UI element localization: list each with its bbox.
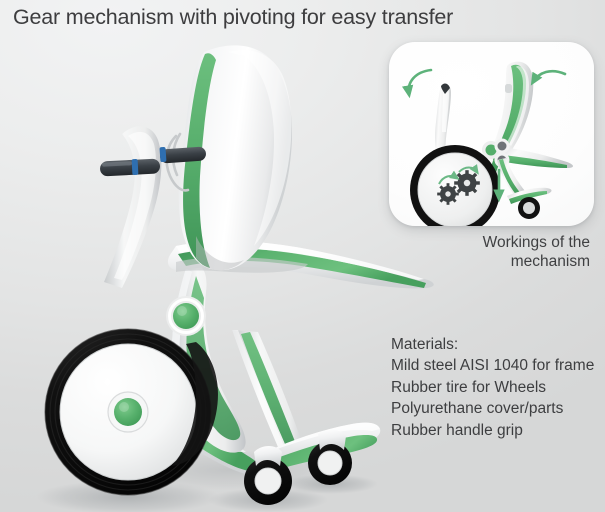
screenshot-root: Gear mechanism with pivoting for easy tr… [0,0,605,512]
mechanism-diagram [389,42,594,226]
grip-accent-ring-2 [159,147,166,162]
inset-caster-wheel [518,197,540,219]
materials-item: Rubber handle grip [391,420,594,441]
mechanism-detail-panel [389,42,594,226]
materials-item: Rubber tire for Wheels [391,377,594,398]
push-handle [104,126,161,288]
arrow-top-right [533,71,565,82]
materials-list: Materials: Mild steel AISI 1040 for fram… [391,334,594,441]
caster-wheel-front [308,441,352,485]
arrow-top-left [409,70,431,94]
materials-heading: Materials: [391,334,594,355]
materials-item: Polyurethane cover/parts [391,398,594,419]
inset-caption-line-1: Workings of the [394,233,590,252]
inset-caption: Workings of the mechanism [394,233,590,271]
grip-accent-ring [132,159,139,175]
caster-wheel-rear [244,457,292,505]
wheel-hub-cap [114,398,142,426]
rear-wheel [45,329,211,495]
inset-caption-line-2: mechanism [394,252,590,271]
materials-item: Mild steel AISI 1040 for frame [391,355,594,376]
pivot-hub [166,296,206,336]
